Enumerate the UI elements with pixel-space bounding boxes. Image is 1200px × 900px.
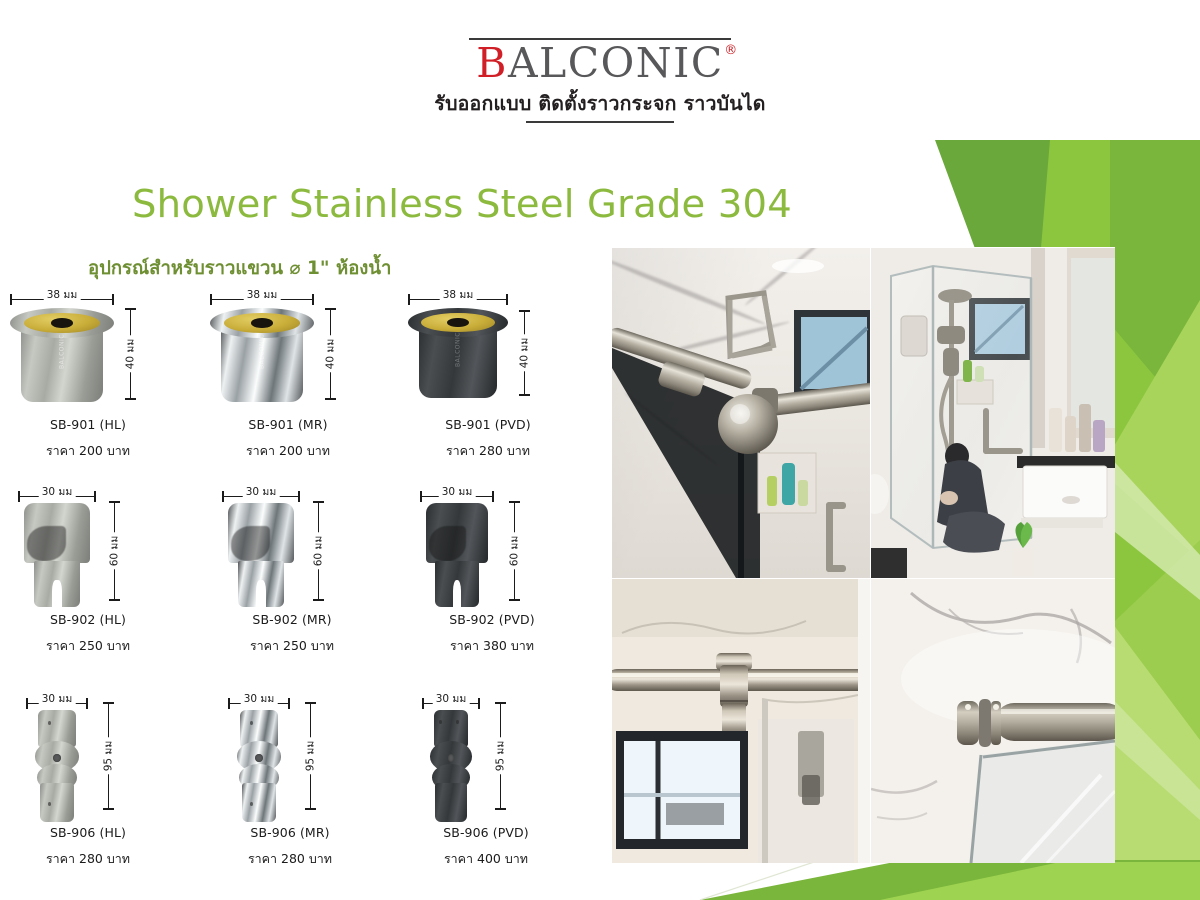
brand-initial: B: [476, 39, 508, 87]
width-dimension: 38 มม: [210, 288, 314, 304]
product-price: ราคา 250 บาท: [0, 636, 188, 656]
height-dimension-label: 40 มม: [122, 336, 139, 373]
logo-rule-bottom: [526, 121, 674, 123]
product-image-sb906-mr: [228, 710, 290, 822]
brand-name-rest: ALCONIC: [508, 39, 724, 87]
product-image-sb902-hl: [18, 503, 96, 607]
product-code: SB-906 (MR): [190, 825, 390, 840]
product-price: ราคา 380 บาท: [392, 636, 592, 656]
height-dimension: 40 มม: [322, 308, 338, 400]
product-card[interactable]: 30 มม 95 มม SB-906 (PVD) ราคา 400 บาท: [386, 692, 586, 869]
height-dimension-label: 60 มม: [506, 533, 523, 570]
product-price: ราคา 280 บาท: [190, 849, 390, 869]
height-dimension-label: 40 มม: [322, 336, 339, 373]
height-dimension-label: 60 มม: [106, 533, 123, 570]
height-dimension: 60 มม: [310, 501, 326, 601]
product-card[interactable]: 30 มม 60 มม SB-902 (PVD) ราคา 380 บาท: [392, 485, 592, 656]
product-code: SB-902 (HL): [0, 612, 188, 627]
product-card[interactable]: 30 มม 95 มม SB-906 (MR) ราคา 280 บาท: [190, 692, 390, 869]
page-subtitle: อุปกรณ์สำหรับราวแขวน ⌀ 1" ห้องน้ำ: [88, 254, 391, 283]
width-dimension: 30 มม: [228, 692, 290, 708]
product-image-sb902-mr: [222, 503, 300, 607]
registered-trademark-icon: ®: [724, 44, 739, 58]
width-dimension-label: 30 มม: [39, 483, 76, 500]
slide-header: BALCONIC® รับออกแบบ ติดตั้งราวกระจก ราวบ…: [0, 0, 1200, 140]
height-dimension: 95 มม: [100, 702, 116, 810]
product-card[interactable]: 38 มม BALCONIC 40 มม SB-901 (HL) ราคา 20…: [0, 288, 188, 461]
product-image-sb902-pvd: [420, 503, 494, 607]
height-dimension-label: 95 มม: [302, 738, 319, 775]
product-code: SB-902 (MR): [192, 612, 392, 627]
photo-shower-rod-wall-flange[interactable]: [612, 579, 870, 863]
width-dimension: 30 มม: [420, 485, 494, 501]
part-brand-engraving: BALCONIC: [258, 331, 265, 373]
product-image-sb901-pvd: BALCONIC: [408, 306, 508, 402]
width-dimension: 38 มม: [10, 288, 114, 304]
width-dimension-label: 38 มม: [244, 286, 281, 303]
photo-shower-enclosure-install[interactable]: [871, 248, 1115, 578]
page-title: Shower Stainless Steel Grade 304: [132, 182, 792, 227]
product-card[interactable]: 38 มม BALCONIC 40 มม SB-901 (MR) ราคา 20…: [188, 288, 388, 461]
height-dimension: 40 มม: [516, 310, 532, 396]
width-dimension: 30 มม: [26, 692, 88, 708]
width-dimension: 30 มม: [422, 692, 480, 708]
width-dimension-label: 38 มม: [44, 286, 81, 303]
product-price: ราคา 200 บาท: [0, 441, 188, 461]
width-dimension-label: 30 มม: [439, 483, 476, 500]
installation-photo-collage: [612, 248, 1114, 862]
product-image-sb906-hl: [26, 710, 88, 822]
height-dimension-label: 95 มม: [100, 738, 117, 775]
width-dimension-label: 30 มม: [433, 690, 470, 707]
product-code: SB-901 (MR): [188, 417, 388, 432]
product-price: ราคา 400 บาท: [386, 849, 586, 869]
height-dimension-label: 40 มม: [516, 335, 533, 372]
width-dimension-label: 30 มม: [39, 690, 76, 707]
product-code: SB-901 (PVD): [388, 417, 588, 432]
part-brand-engraving: BALCONIC: [58, 331, 65, 373]
product-grid: 38 มม BALCONIC 40 มม SB-901 (HL) ราคา 20…: [0, 288, 600, 888]
product-card[interactable]: 30 มม 95 มม SB-906 (HL) ราคา 280 บาท: [0, 692, 188, 869]
width-dimension: 38 มม: [408, 288, 508, 304]
photo-rod-end-bracket-marble[interactable]: [871, 579, 1115, 863]
width-dimension-label: 38 มม: [440, 286, 477, 303]
height-dimension: 95 มม: [492, 702, 508, 810]
part-brand-engraving: BALCONIC: [455, 330, 462, 370]
product-image-sb901-mr: BALCONIC: [210, 306, 314, 406]
brand-wordmark: BALCONIC®: [476, 42, 723, 85]
height-dimension: 95 มม: [302, 702, 318, 810]
photo-handrail-elbow-joint[interactable]: [612, 248, 870, 578]
product-card[interactable]: 30 มม 60 มม SB-902 (MR) ราคา 250 บาท: [192, 485, 392, 656]
height-dimension-label: 60 มม: [310, 533, 327, 570]
slide-page: BALCONIC® รับออกแบบ ติดตั้งราวกระจก ราวบ…: [0, 0, 1200, 900]
product-price: ราคา 200 บาท: [188, 441, 388, 461]
product-price: ราคา 280 บาท: [388, 441, 588, 461]
width-dimension-label: 30 มม: [241, 690, 278, 707]
product-price: ราคา 280 บาท: [0, 849, 188, 869]
product-image-sb901-hl: BALCONIC: [10, 306, 114, 406]
product-card[interactable]: 38 มม BALCONIC 40 มม SB-901 (PVD) ราคา 2…: [388, 288, 588, 461]
product-card[interactable]: 30 มม 60 มม SB-902 (HL) ราคา 250 บาท: [0, 485, 188, 656]
width-dimension: 30 มม: [18, 485, 96, 501]
product-code: SB-901 (HL): [0, 417, 188, 432]
product-code: SB-906 (PVD): [386, 825, 586, 840]
width-dimension: 30 มม: [222, 485, 300, 501]
width-dimension-label: 30 มม: [243, 483, 280, 500]
height-dimension: 60 มม: [506, 501, 522, 601]
height-dimension-label: 95 มม: [492, 738, 509, 775]
product-image-sb906-pvd: [422, 710, 480, 822]
brand-tagline: รับออกแบบ ติดตั้งราวกระจก ราวบันได: [390, 88, 810, 119]
product-price: ราคา 250 บาท: [192, 636, 392, 656]
product-code: SB-902 (PVD): [392, 612, 592, 627]
height-dimension: 60 มม: [106, 501, 122, 601]
brand-logo: BALCONIC® รับออกแบบ ติดตั้งราวกระจก ราวบ…: [390, 38, 810, 123]
product-code: SB-906 (HL): [0, 825, 188, 840]
height-dimension: 40 มม: [122, 308, 138, 400]
